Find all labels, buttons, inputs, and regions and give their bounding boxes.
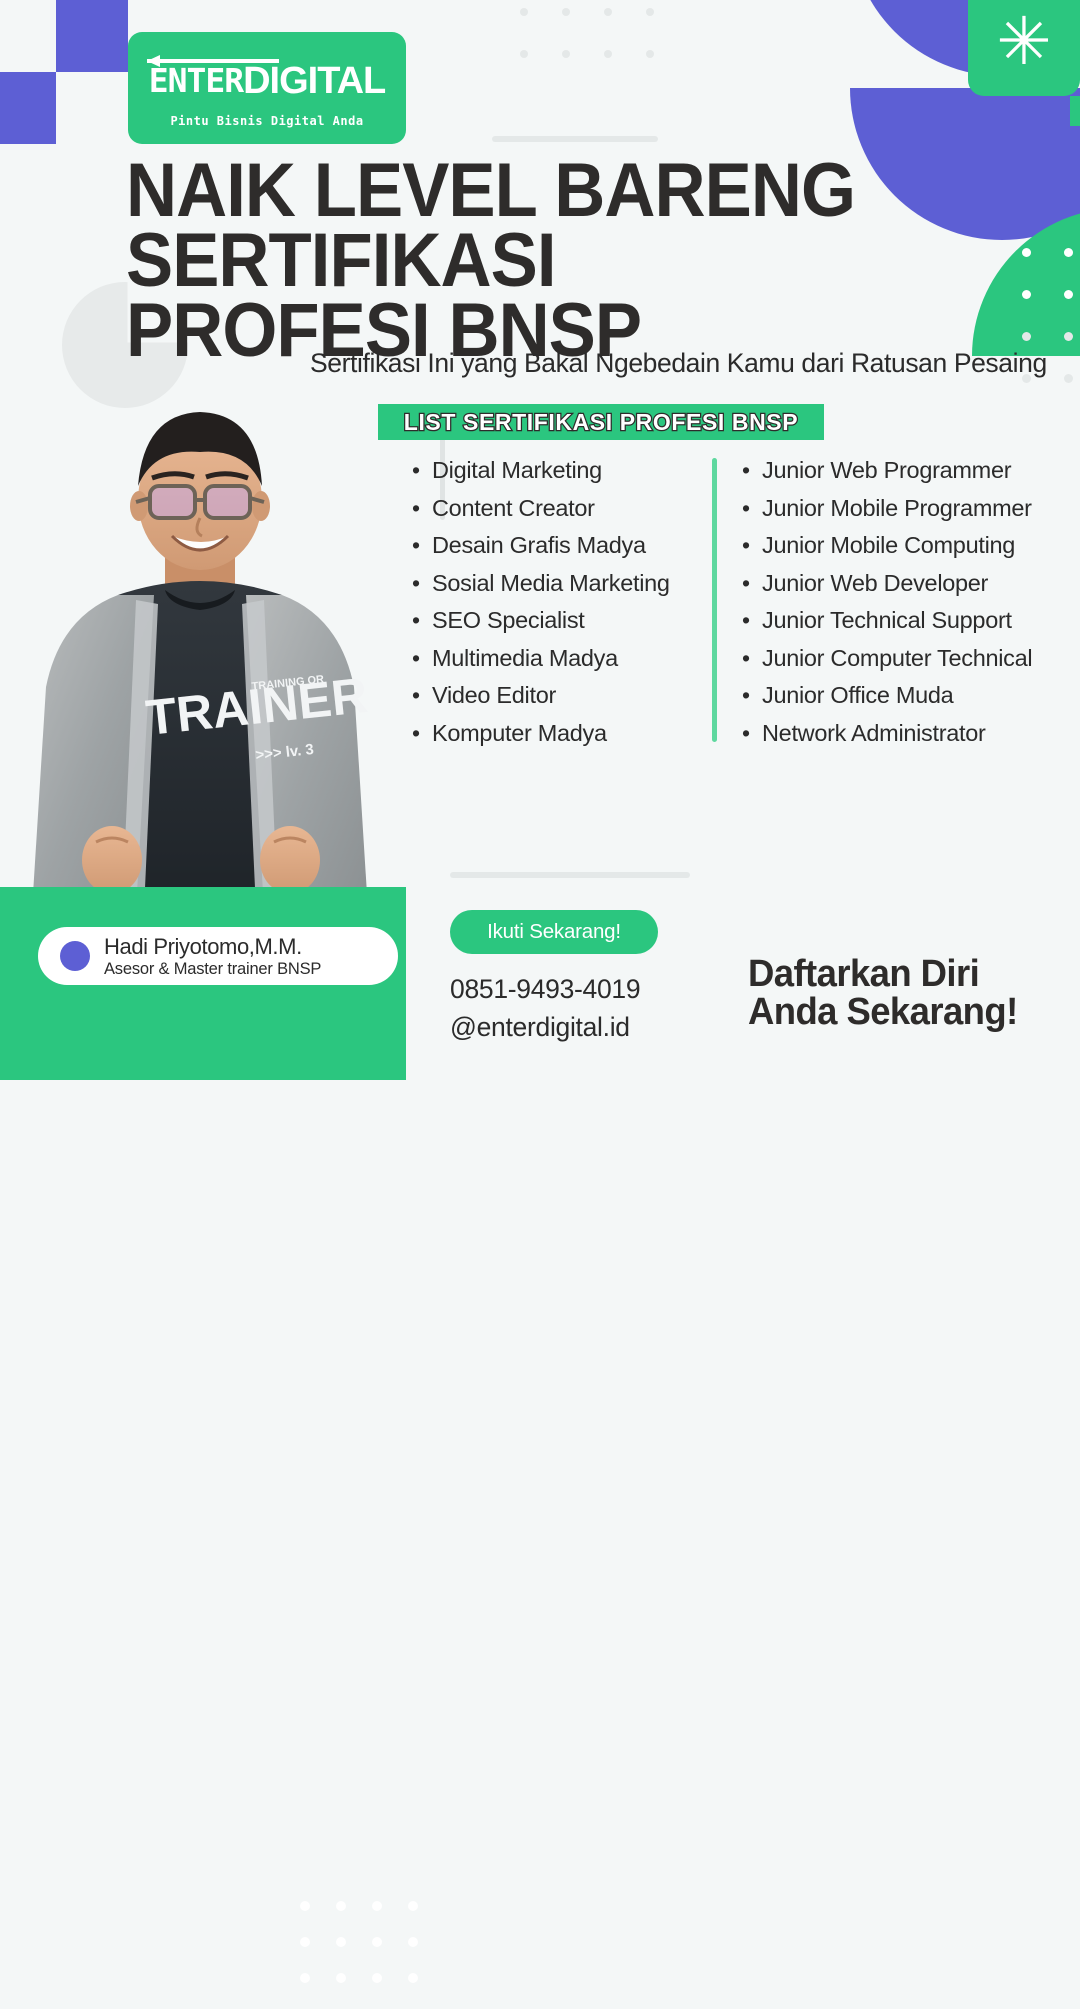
list-item: •Video Editor [412,677,712,715]
list-section-title: LIST SERTIFIKASI PROFESI BNSP [404,409,798,436]
decor-dot [336,1901,346,1911]
bullet-icon: • [742,602,762,640]
register-callout: Daftarkan Diri Anda Sekarang! [748,955,1055,1031]
list-item: •Junior Mobile Computing [742,527,1080,565]
list-item: •Content Creator [412,490,712,528]
list-item-label: Junior Web Developer [762,565,988,603]
decor-dot-grid-panel [300,1901,444,2009]
decor-dot [604,50,612,58]
presenter-role: Asesor & Master trainer BNSP [104,959,321,979]
presenter-name-card: Hadi Priyotomo,M.M. Asesor & Master trai… [38,927,398,985]
list-item: •Junior Office Muda [742,677,1080,715]
decor-divider-bottom [450,872,690,878]
decor-dot [520,50,528,58]
bullet-icon: • [742,452,762,490]
bullet-icon: • [742,527,762,565]
decor-dot [336,1973,346,1983]
bullet-icon: • [412,602,432,640]
list-item-label: Network Administrator [762,715,986,753]
bullet-icon: • [412,715,432,753]
left-arrow-icon [147,52,279,63]
decor-dot [562,8,570,16]
decor-dot [1064,290,1073,299]
decor-dot [372,1973,382,1983]
list-item: •Sosial Media Marketing [412,565,712,603]
logo-enter-text: ENTER [149,64,243,98]
bullet-icon: • [742,677,762,715]
decor-dot [604,8,612,16]
decor-dot [300,1937,310,1947]
decor-dot [372,1937,382,1947]
decor-dot-grid-right [1022,248,1080,416]
presenter-name: Hadi Priyotomo,M.M. [104,934,321,959]
list-item: •SEO Specialist [412,602,712,640]
logo-tagline: Pintu Bisnis Digital Anda [128,114,406,128]
poster-canvas: ✳ ENTER DIGITAL Pintu Bisnis Digital And… [0,0,1080,1080]
brand-logo-card[interactable]: ENTER DIGITAL Pintu Bisnis Digital Anda [128,32,406,144]
decor-divider-top [492,136,658,142]
decor-dot [1022,248,1031,257]
register-callout-line1: Daftarkan Diri [748,955,1055,993]
list-item-label: Komputer Madya [432,715,607,753]
list-item: •Multimedia Madya [412,640,712,678]
list-item-label: Junior Technical Support [762,602,1012,640]
list-item-label: SEO Specialist [432,602,585,640]
decor-square-purple-left [0,72,56,144]
list-item: •Desain Grafis Madya [412,527,712,565]
decor-dot-grid-top [520,8,688,92]
bullet-icon: • [742,715,762,753]
certification-column-right: •Junior Web Programmer•Junior Mobile Pro… [712,452,1080,752]
decor-dot [520,8,528,16]
decor-dot [408,1901,418,1911]
decor-quarter-circle-purple-2 [850,88,1002,240]
logo-digital-text: DIGITAL [243,64,385,98]
decor-dot [300,1901,310,1911]
phone-number[interactable]: 0851-9493-4019 [450,974,640,1005]
decor-dot [646,8,654,16]
list-item: •Junior Mobile Programmer [742,490,1080,528]
bullet-icon: • [412,452,432,490]
join-now-label: Ikuti Sekarang! [487,920,621,944]
list-item-label: Junior Mobile Computing [762,527,1015,565]
decor-dot [1064,332,1073,341]
decor-dot [300,1973,310,1983]
asterisk-icon: ✳ [988,6,1060,78]
list-item-label: Junior Computer Technical [762,640,1032,678]
list-item: •Junior Web Programmer [742,452,1080,490]
list-item: •Komputer Madya [412,715,712,753]
bullet-icon: • [412,640,432,678]
join-now-button[interactable]: Ikuti Sekarang! [450,910,658,954]
page-title: NAIK LEVEL BARENG SERTIFIKASI PROFESI BN… [126,156,861,366]
register-callout-line2: Anda Sekarang! [748,993,1055,1031]
decor-dot [1022,290,1031,299]
bullet-icon: • [742,565,762,603]
bullet-icon: • [742,490,762,528]
list-item-label: Content Creator [432,490,595,528]
list-item-label: Digital Marketing [432,452,602,490]
bullet-icon: • [412,677,432,715]
bullet-icon: • [742,640,762,678]
presenter-panel: Hadi Priyotomo,M.M. Asesor & Master trai… [0,887,406,1080]
avatar [60,941,90,971]
bullet-icon: • [412,490,432,528]
page-subtitle: Sertifikasi Ini yang Bakal Ngebedain Kam… [310,348,1080,379]
decor-green-rounded-square: ✳ [968,0,1080,96]
decor-dot [336,1937,346,1947]
list-section-banner: LIST SERTIFIKASI PROFESI BNSP [378,404,824,440]
list-item-label: Sosial Media Marketing [432,565,670,603]
decor-dot [1064,248,1073,257]
social-handle[interactable]: @enterdigital.id [450,1012,630,1043]
decor-dot [1022,332,1031,341]
logo-wordmark: ENTER DIGITAL [128,58,406,104]
list-item: •Digital Marketing [412,452,712,490]
bullet-icon: • [412,527,432,565]
list-item-label: Desain Grafis Madya [432,527,646,565]
decor-dot [646,50,654,58]
presenter-photo: TRAINING OR TRAINER >>> lv. 3 [0,390,400,910]
decor-dot [562,50,570,58]
certification-column-left: •Digital Marketing•Content Creator•Desai… [412,452,712,752]
list-item-label: Junior Web Programmer [762,452,1011,490]
decor-dot [372,1901,382,1911]
decor-dot [408,1937,418,1947]
presenter-info: Hadi Priyotomo,M.M. Asesor & Master trai… [104,934,321,979]
list-item: •Junior Web Developer [742,565,1080,603]
decor-dot [408,1973,418,1983]
list-item-label: Video Editor [432,677,556,715]
certification-lists: •Digital Marketing•Content Creator•Desai… [412,452,1080,752]
bullet-icon: • [412,565,432,603]
list-item-label: Multimedia Madya [432,640,618,678]
list-item: •Junior Technical Support [742,602,1080,640]
decor-square-purple-top [56,0,128,72]
decor-green-strip-right [1070,96,1080,126]
list-item: •Junior Computer Technical [742,640,1080,678]
list-item-label: Junior Office Muda [762,677,953,715]
list-item-label: Junior Mobile Programmer [762,490,1032,528]
list-item: •Network Administrator [742,715,1080,753]
